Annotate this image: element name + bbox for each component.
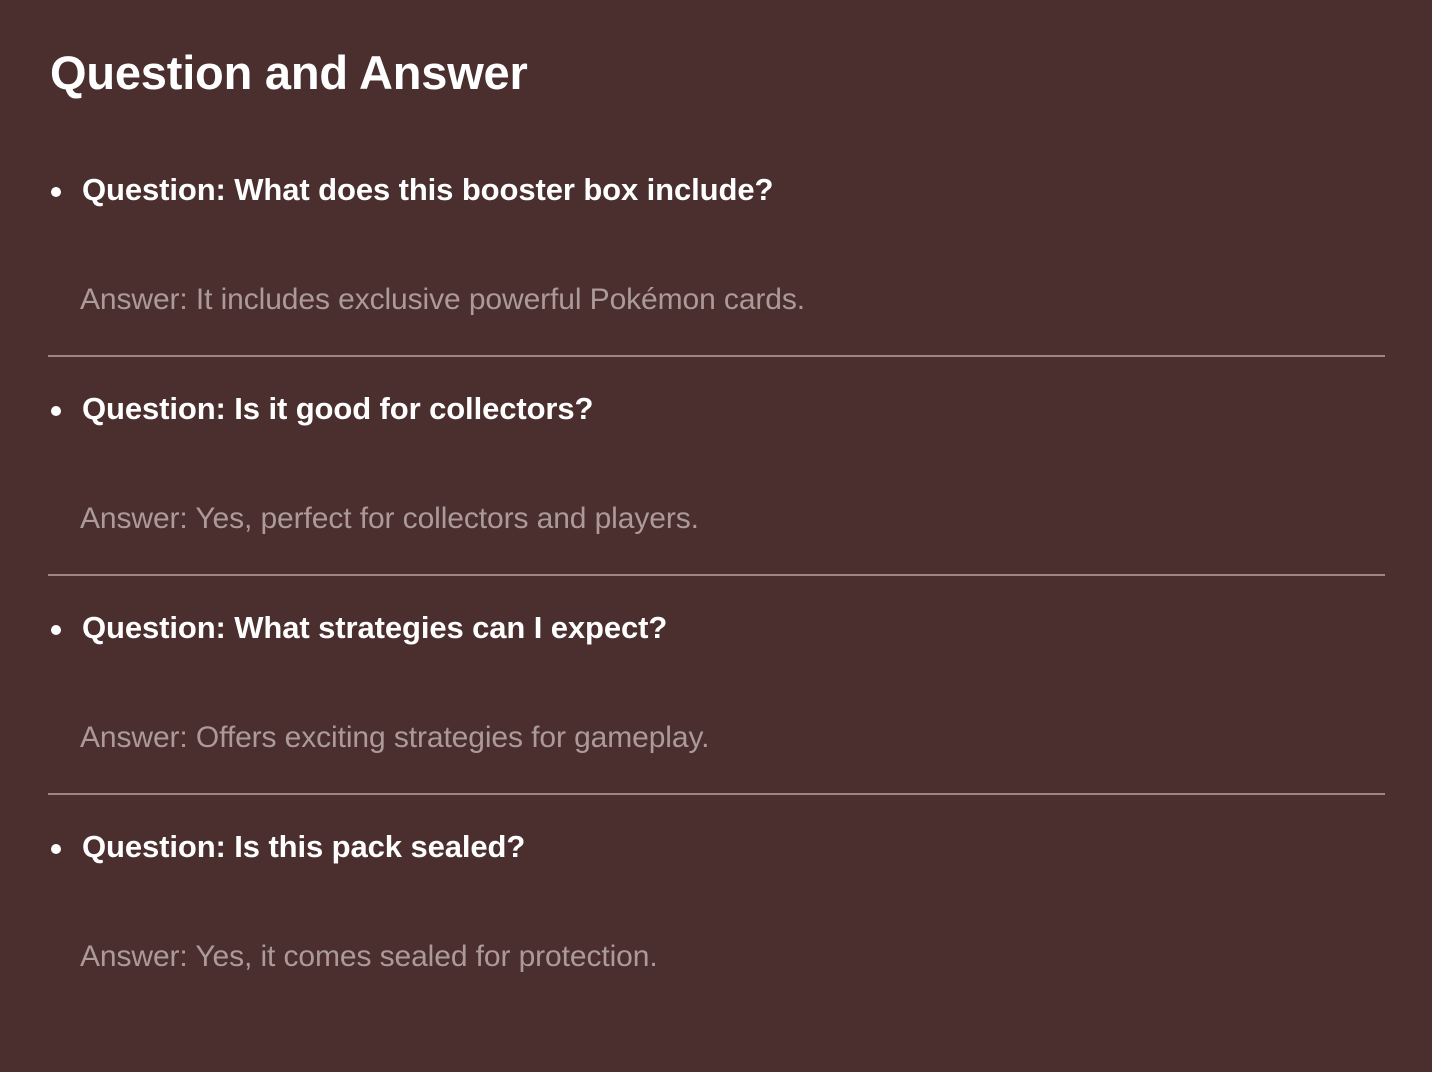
qa-answer-text: Answer: It includes exclusive powerful P…: [80, 281, 1432, 319]
list-item: Question: What does this booster box inc…: [0, 170, 1432, 389]
list-item: Question: Is this pack sealed? Answer: Y…: [0, 827, 1432, 976]
list-item: Question: What strategies can I expect? …: [0, 608, 1432, 827]
bullet-icon: [51, 844, 61, 854]
qa-answer-text: Answer: Offers exciting strategies for g…: [80, 719, 1432, 757]
spacer: [0, 357, 1432, 389]
qa-question-text: Question: Is it good for collectors?: [82, 389, 1432, 429]
qa-question-text: Question: What strategies can I expect?: [82, 608, 1432, 648]
spacer: [0, 576, 1432, 608]
qa-question-text: Question: Is this pack sealed?: [82, 827, 1432, 867]
list-item: Question: Is it good for collectors? Ans…: [0, 389, 1432, 608]
qa-question-row: Question: Is it good for collectors?: [0, 389, 1432, 447]
bullet-icon: [51, 187, 61, 197]
bullet-icon: [51, 625, 61, 635]
question-and-answer-panel: Question and Answer Question: What does …: [0, 0, 1432, 1072]
qa-question-row: Question: What strategies can I expect?: [0, 608, 1432, 666]
page-title: Question and Answer: [50, 47, 528, 99]
bullet-icon: [51, 406, 61, 416]
qa-answer-text: Answer: Yes, perfect for collectors and …: [80, 500, 1432, 538]
spacer: [0, 795, 1432, 827]
qa-question-text: Question: What does this booster box inc…: [82, 170, 1432, 210]
qa-question-row: Question: Is this pack sealed?: [0, 827, 1432, 885]
qa-answer-text: Answer: Yes, it comes sealed for protect…: [80, 938, 1432, 976]
qa-list: Question: What does this booster box inc…: [0, 170, 1432, 976]
qa-question-row: Question: What does this booster box inc…: [0, 170, 1432, 228]
